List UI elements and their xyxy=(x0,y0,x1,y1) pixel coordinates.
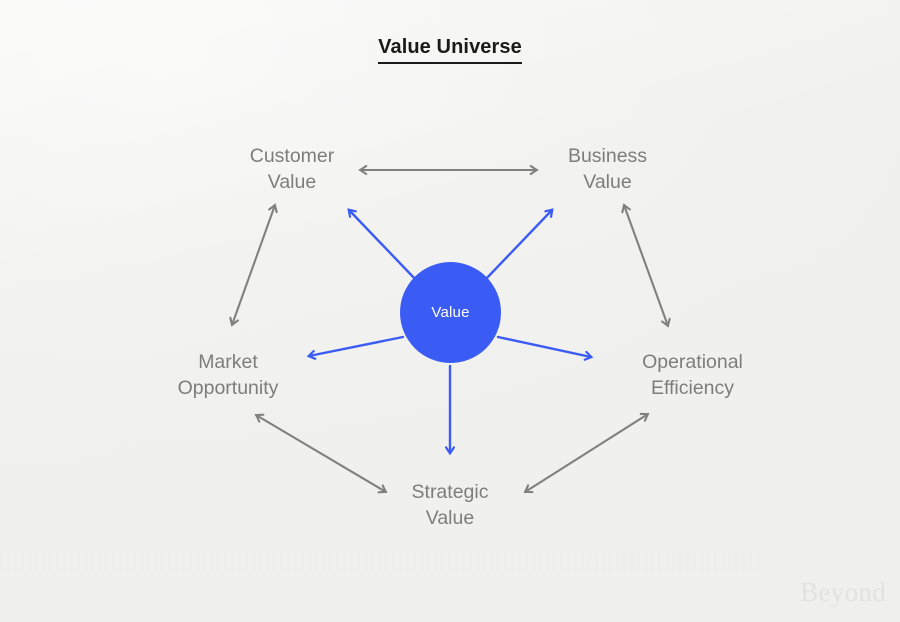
node-market-opportunity-line2: Opportunity xyxy=(138,376,318,402)
center-node-value[interactable]: Value xyxy=(400,262,501,363)
spoke-hub-to-market xyxy=(309,337,403,356)
link-market-strategic xyxy=(256,415,386,492)
spoke-hub-to-operational xyxy=(498,337,591,357)
center-node-label: Value xyxy=(431,305,469,320)
link-operational-strategic xyxy=(525,414,648,492)
node-business-value-line1: Business xyxy=(520,144,695,170)
spoke-hub-to-business xyxy=(484,210,552,281)
node-operational-efficiency[interactable]: Operational Efficiency xyxy=(600,350,785,402)
page-title: Value Universe xyxy=(378,36,522,64)
node-customer-value[interactable]: Customer Value xyxy=(202,144,382,196)
brand-watermark: Beyond xyxy=(800,579,886,606)
diagram-canvas: Value Universe xyxy=(0,0,900,622)
node-strategic-value-line1: Strategic xyxy=(370,480,530,506)
spoke-hub-to-customer xyxy=(349,210,417,281)
node-market-opportunity-line1: Market xyxy=(138,350,318,376)
node-strategic-value-line2: Value xyxy=(370,506,530,532)
node-operational-efficiency-line1: Operational xyxy=(600,350,785,376)
node-customer-value-line2: Value xyxy=(202,170,382,196)
node-business-value-line2: Value xyxy=(520,170,695,196)
node-operational-efficiency-line2: Efficiency xyxy=(600,376,785,402)
page-title-container: Value Universe xyxy=(0,36,900,64)
link-customer-market xyxy=(232,205,275,325)
node-customer-value-line1: Customer xyxy=(202,144,382,170)
node-business-value[interactable]: Business Value xyxy=(520,144,695,196)
node-market-opportunity[interactable]: Market Opportunity xyxy=(138,350,318,402)
link-business-operational xyxy=(624,205,668,326)
node-strategic-value[interactable]: Strategic Value xyxy=(370,480,530,532)
